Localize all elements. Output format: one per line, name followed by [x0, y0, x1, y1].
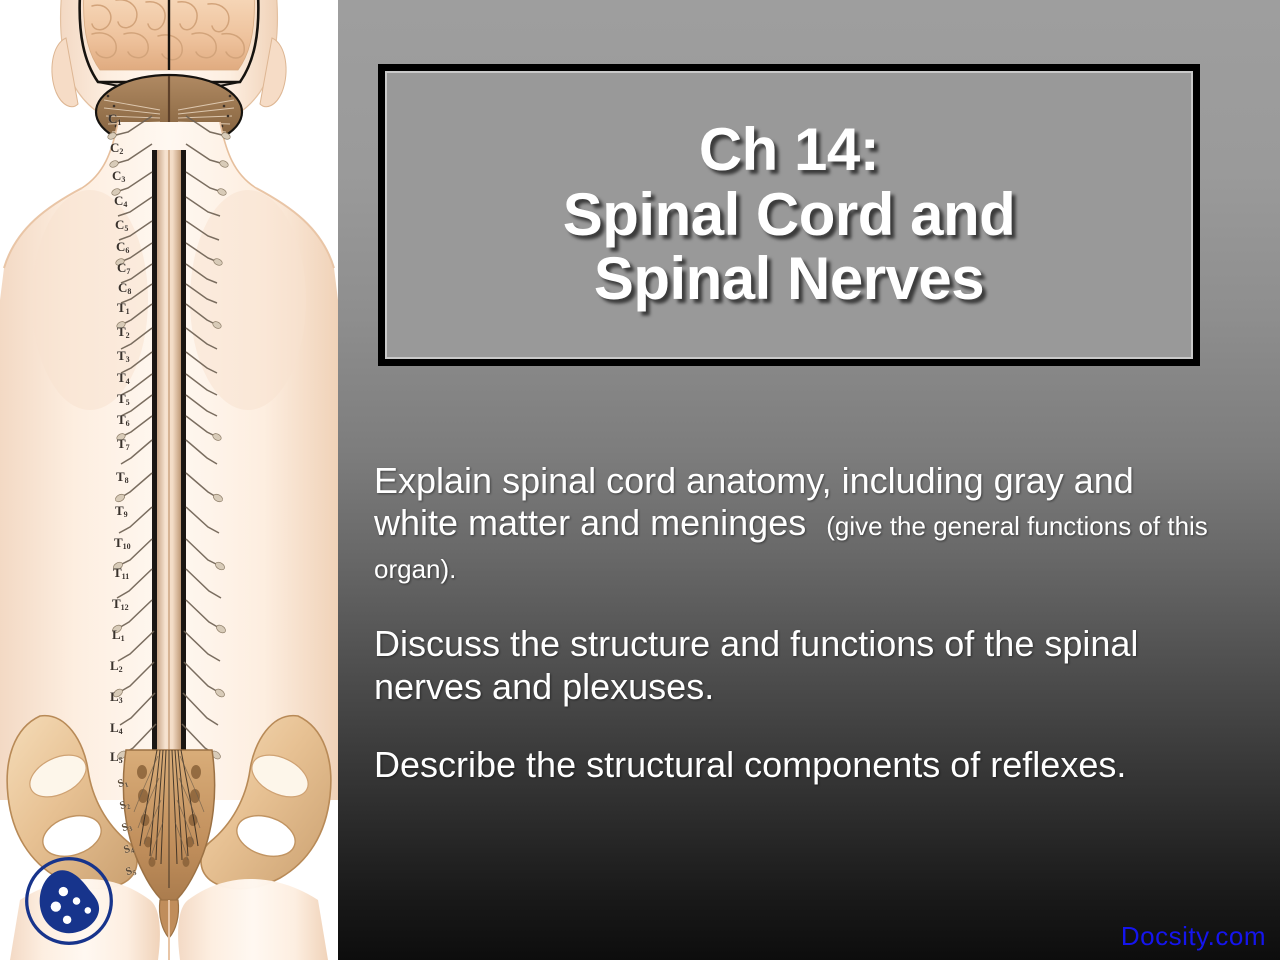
docsity-logo-icon — [22, 854, 116, 948]
objective-3-main: Describe the structural components of re… — [374, 744, 1126, 785]
slide-title-box: Ch 14: Spinal Cord and Spinal Nerves — [378, 64, 1200, 366]
objective-item-1: Explain spinal cord anatomy, including g… — [374, 460, 1214, 587]
title-line-3: Spinal Nerves — [594, 247, 984, 312]
title-line-2: Spinal Cord and — [563, 183, 1016, 248]
docsity-watermark: Docsity.com — [1121, 921, 1266, 952]
objective-item-2: Discuss the structure and functions of t… — [374, 623, 1214, 708]
spinal-cord-anatomy-illustration — [0, 0, 338, 960]
objective-item-3: Describe the structural components of re… — [374, 744, 1214, 786]
spinal-cord-illustration-panel: C1C2C3C4C5C6C7C8T1T2T3T4T5T6T7T8T9T10T11… — [0, 0, 338, 960]
slide: C1C2C3C4C5C6C7C8T1T2T3T4T5T6T7T8T9T10T11… — [0, 0, 1280, 960]
objectives-list: Explain spinal cord anatomy, including g… — [374, 424, 1214, 787]
objective-2-main: Discuss the structure and functions of t… — [374, 623, 1138, 706]
title-line-1: Ch 14: — [699, 118, 879, 183]
